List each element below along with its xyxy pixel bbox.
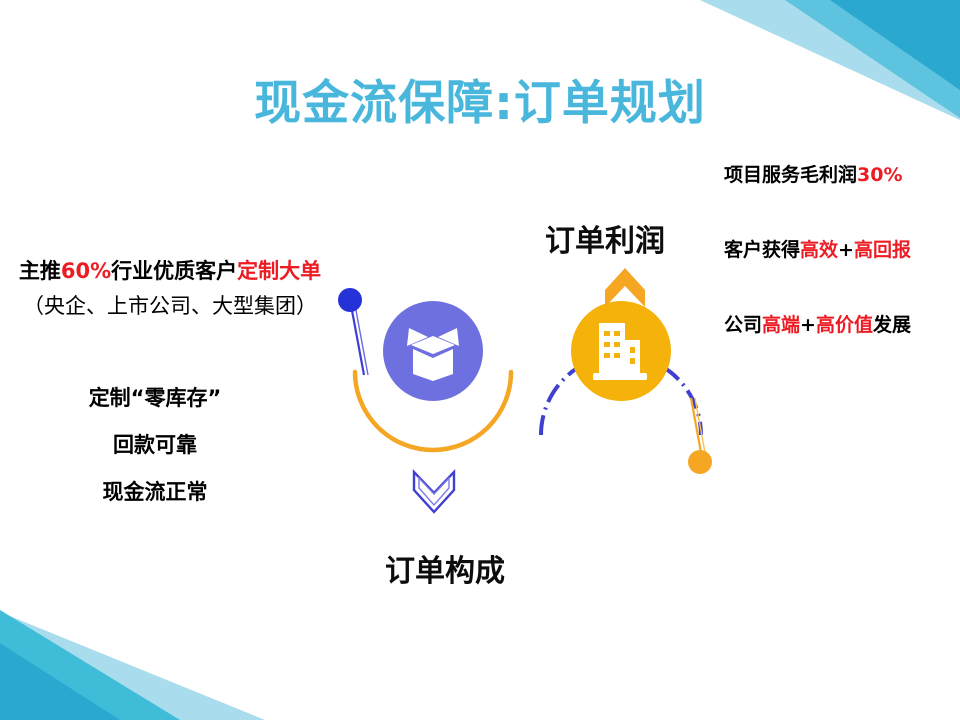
right-line-2-part-3: 高回报	[854, 239, 911, 261]
right-line-2-part-1: 高效	[800, 239, 838, 261]
right-text-panel: 项目服务毛利润30% 客户获得高效+高回报 公司高端+高价值发展	[724, 160, 960, 385]
corner-band-bl-3	[0, 610, 180, 720]
right-line-2-part-0: 客户获得	[724, 239, 800, 261]
right-line-3: 公司高端+高价值发展	[724, 310, 960, 337]
right-line-2: 客户获得高效+高回报	[724, 235, 960, 262]
list-item: 现金流正常	[0, 476, 310, 506]
corner-band-bl-4	[0, 643, 120, 720]
up-chevron-icon	[605, 268, 645, 307]
right-line-3-part-4: 发展	[873, 314, 911, 336]
page-title: 现金流保障:订单规划	[0, 64, 960, 133]
left-headline-part-3: 定制大单	[237, 259, 321, 283]
corner-band-bl-1	[0, 660, 180, 720]
center-diagram	[330, 250, 730, 550]
list-item: 回款可靠	[0, 429, 310, 459]
right-line-3-part-1: 高端	[762, 314, 800, 336]
left-subtitle: （央企、上市公司、大型集团）	[0, 293, 340, 319]
corner-band-tr-1	[790, 0, 960, 50]
blue-dot	[338, 288, 362, 312]
right-line-1-part-1: 30%	[857, 164, 902, 186]
right-line-1: 项目服务毛利润30%	[724, 160, 960, 187]
diagram-label-order-composition: 订单构成	[345, 546, 545, 590]
left-bullet-list: 定制“零库存” 回款可靠 现金流正常	[0, 382, 310, 523]
list-item: 定制“零库存”	[0, 382, 310, 412]
right-line-3-part-3: 高价值	[816, 314, 873, 336]
left-headline: 主推60%行业优质客户定制大单	[0, 258, 340, 284]
corner-band-bl-2	[0, 612, 265, 720]
left-headline-part-0: 主推	[19, 259, 61, 283]
orange-dot	[688, 450, 712, 474]
right-line-1-part-0: 项目服务毛利润	[724, 164, 857, 186]
slide-canvas: 现金流保障:订单规划 主推60%行业优质客户定制大单 （央企、上市公司、大型集团…	[0, 0, 960, 720]
right-line-2-part-2: +	[838, 239, 854, 261]
right-line-3-part-2: +	[800, 314, 816, 336]
left-headline-part-2: 行业优质客户	[111, 259, 237, 283]
left-headline-part-1: 60%	[61, 259, 111, 283]
left-text-panel: 主推60%行业优质客户定制大单 （央企、上市公司、大型集团）	[0, 258, 340, 320]
